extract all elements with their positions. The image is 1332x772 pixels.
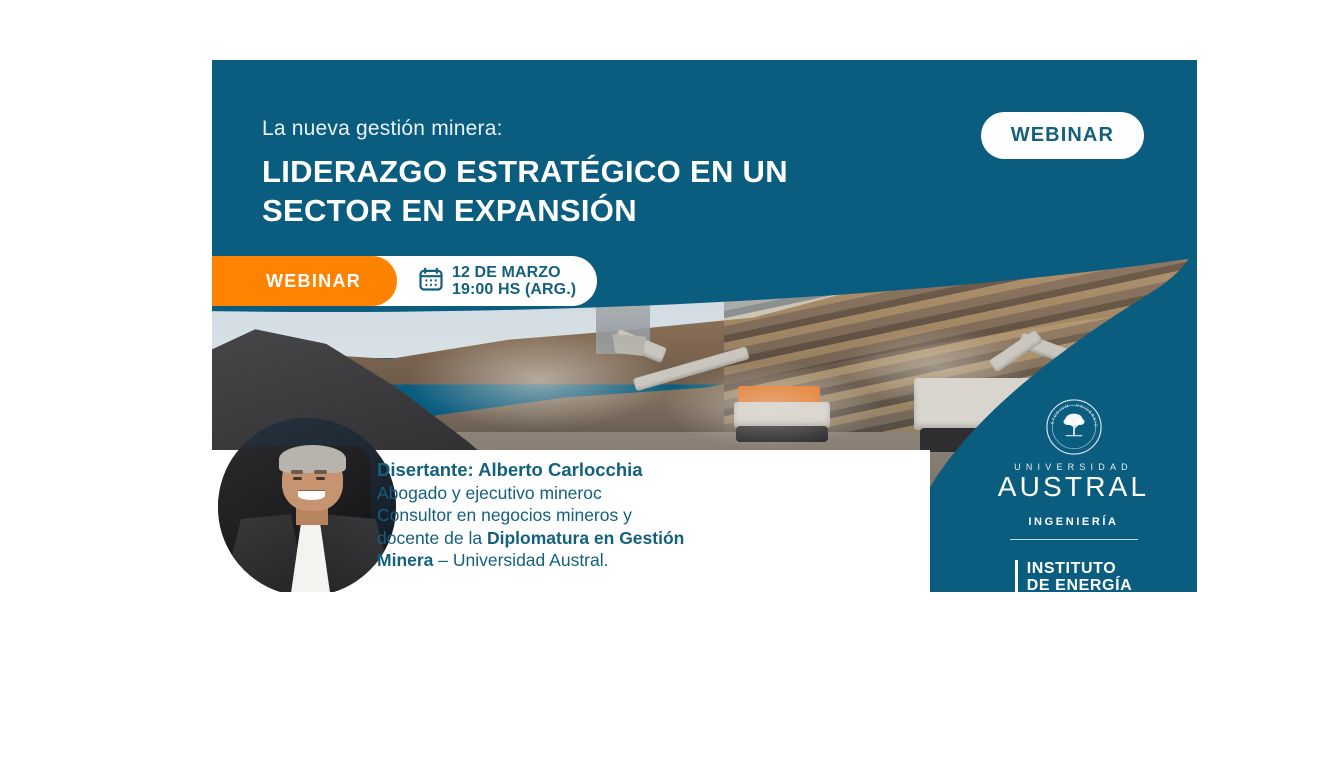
webinar-badge-top[interactable]: WEBINAR	[981, 112, 1144, 159]
speaker-role-line-3: docente de la Diplomatura en Gestión	[377, 527, 797, 549]
instituto-text: INSTITUTO DE ENERGÍA	[1027, 560, 1133, 592]
speaker-role-line-4: Minera – Universidad Austral.	[377, 549, 797, 571]
avatar-eye-right	[316, 477, 325, 481]
speaker-name-line: Disertante: Alberto Carlocchia	[377, 458, 797, 482]
instituto-accent-bar	[1015, 560, 1018, 592]
calendar-icon	[417, 265, 445, 298]
event-date-day: 12 DE MARZO	[452, 264, 576, 281]
speaker-role-line-2: Consultor en negocios mineros y	[377, 504, 797, 526]
avatar-eyebrow-right	[314, 470, 326, 474]
speaker-institution: – Universidad Austral.	[433, 550, 608, 570]
instituto-line2: DE ENERGÍA	[1027, 577, 1133, 592]
webinar-badge-orange[interactable]: WEBINAR	[212, 256, 397, 306]
logo-faculty-text: INGENIERÍA	[986, 516, 1161, 528]
avatar-smile	[298, 491, 325, 500]
page-title: LIDERAZGO ESTRATÉGICO EN UN SECTOR EN EX…	[262, 152, 902, 231]
avatar-hair	[279, 445, 347, 473]
speaker-details: Disertante: Alberto Carlocchia Abogado y…	[377, 458, 797, 572]
tree-seal-icon: UNIVERSIDAD STUDIUM · AUSTRALE	[1045, 398, 1103, 456]
speaker-role-prefix: docente de la	[377, 528, 487, 548]
event-date-group: 12 DE MARZO 19:00 HS (ARG.)	[417, 256, 576, 306]
webinar-promo-card: La nueva gestión minera: LIDERAZGO ESTRA…	[212, 60, 1197, 592]
avatar-eyebrow-left	[291, 470, 303, 474]
eyebrow-text: La nueva gestión minera:	[262, 117, 503, 141]
speaker-role-line-1: Abogado y ejecutivo mineroc	[377, 482, 797, 504]
speaker-program-name-part1: Diplomatura en Gestión	[487, 528, 684, 548]
webinar-badge-orange-label: WEBINAR	[266, 271, 361, 292]
instituto-line1: INSTITUTO	[1027, 560, 1133, 577]
speaker-program-name-part2: Minera	[377, 550, 433, 570]
logo-divider	[1010, 539, 1138, 540]
logo-austral-text: AUSTRAL	[986, 473, 1161, 501]
instituto-energia-logo: INSTITUTO DE ENERGÍA	[986, 560, 1161, 592]
event-date-time: 19:00 HS (ARG.)	[452, 281, 576, 298]
austral-logo: UNIVERSIDAD STUDIUM · AUSTRALE UNIVERSID…	[986, 398, 1161, 592]
event-date-text: 12 DE MARZO 19:00 HS (ARG.)	[452, 264, 576, 299]
avatar-eye-left	[293, 477, 302, 481]
avatar	[218, 418, 396, 592]
